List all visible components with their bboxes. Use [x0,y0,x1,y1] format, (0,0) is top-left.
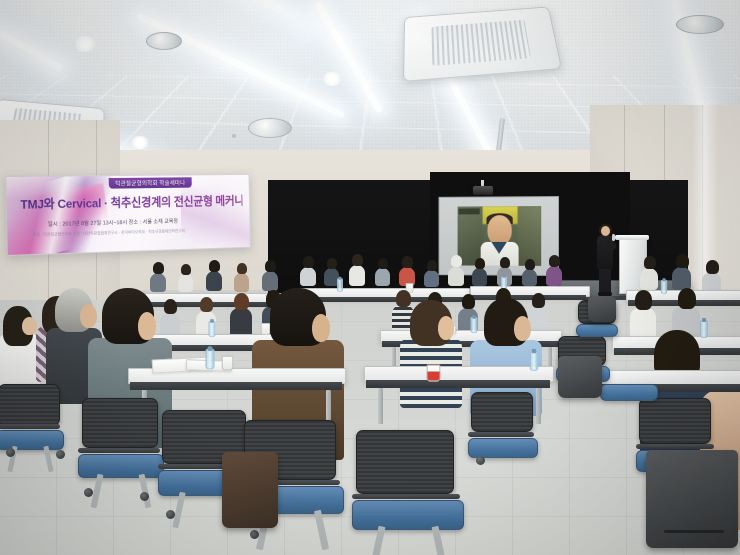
chair-backrest [82,398,158,448]
attendee-hair [265,260,276,272]
desk-modesty-panel [130,382,342,390]
attendee-hair [676,254,689,268]
attendee-torso [640,268,658,290]
ceiling-downlight [130,136,150,149]
desk-leg [326,390,331,424]
backpack-strap [664,530,724,533]
seminar-chair [468,392,542,464]
attendee [448,256,464,286]
chair-caster [56,450,65,459]
attendee [640,256,658,290]
attendee-hair [237,263,247,274]
chair-caster [140,492,149,501]
attendee-hair [451,255,462,267]
attendee-torso [234,273,249,292]
attendee [262,260,278,291]
attendee-hair [678,288,696,309]
chair-seat [78,454,164,478]
attendee-hair [525,259,535,270]
ceiling-speaker [248,118,292,138]
attendee-head [438,316,454,340]
chair-armrest [636,444,714,449]
attendee-hair [303,256,314,268]
attendee [399,256,415,286]
attendee [230,293,252,338]
chair-caster [250,530,259,539]
red-coffee-cup [427,364,441,382]
attendee-torso [546,266,562,286]
attendee [546,255,562,286]
shoulder-bag [588,296,616,322]
attendee-torso [472,268,487,286]
attendee [178,264,193,292]
attendee-hair [181,264,191,275]
attendee [0,306,40,390]
attendee-torso [522,269,537,286]
water-bottle [208,321,215,337]
chair-backrest [356,430,454,494]
attendee-head [22,317,37,335]
event-banner: 턱관절균형의학회 학술세미나 TMJ와 Cervical · 척추신경계의 전신… [5,174,251,256]
attendee-hair [402,256,413,268]
presenter [594,226,616,296]
seminar-room-photo: 턱관절균형의학회 학술세미나 TMJ와 Cervical · 척추신경계의 전신… [0,0,740,555]
ceiling-speaker [676,15,724,34]
seminar-chair [352,430,470,546]
shoulder-bag [558,356,602,398]
video-background-right [518,206,542,266]
chair-armrest [468,432,534,437]
attendee [424,260,439,287]
attendee-hair [153,262,164,274]
attendee-hair [234,293,249,310]
chair-armrest [352,494,460,499]
attendee-head [138,312,156,340]
ceiling-downlight [322,72,342,86]
attendee [522,259,537,286]
lectern-top [615,235,649,240]
attendee-torso [178,274,193,292]
paper-cup [222,356,234,371]
attendee-torso [672,267,691,290]
chair-seat [576,324,618,337]
water-bottle [661,280,667,294]
chair-backrest [0,384,60,426]
ceiling-speaker [146,32,182,50]
attendee [375,258,390,286]
attendee-head [514,316,531,341]
seminar-chair [600,352,662,412]
attendee-hair [427,260,437,271]
attendee-hair [635,290,652,310]
water-bottle [205,349,214,370]
attendee [234,263,249,292]
attendee-torso [300,267,316,286]
attendee-hair [378,258,388,269]
shoulder-bag [222,452,278,528]
microphone [612,234,615,241]
ceiling-ac-cassette [403,7,562,82]
attendee-hair [209,260,220,272]
chair-seat [600,384,658,401]
attendee-torso [206,271,222,291]
backpack [646,450,738,548]
attendee-hair [706,260,719,274]
desk-leg [378,388,383,424]
attendee-hair [352,254,363,266]
attendee-torso [448,267,464,286]
attendee-hair [549,255,560,267]
chair-armrest [0,424,60,429]
video-subject-face [487,215,511,245]
chair-caster [476,456,485,465]
attendee-torso [424,270,439,287]
sprinkler-head [232,134,236,138]
chair-caster [6,448,15,457]
attendee-torso [375,268,390,286]
presenter-legs [599,268,611,294]
attendee-hair [500,257,510,268]
desk-modesty-panel [366,380,550,388]
video-caption-bar [459,208,480,214]
attendee-hair [644,256,656,269]
seminar-chair [0,384,70,458]
chair-armrest [78,448,160,453]
chair-backrest [471,392,533,432]
chair-seat [468,438,538,458]
ceiling-downlight [74,36,96,52]
attendee-hair [475,258,485,269]
banner-organizer-tab: 턱관절균형의학회 학술세미나 [109,177,192,188]
water-bottle [530,351,539,371]
attendee [206,260,222,291]
attendee [349,254,365,286]
attendee-hair [200,297,213,312]
attendee [672,254,691,290]
attendee [472,258,487,286]
chair-caster [166,510,175,519]
attendee-torso [349,265,365,286]
attendee-head [312,314,330,342]
attendee-hair [327,258,337,269]
attendee [400,300,462,408]
chair-seat [352,500,464,530]
chair-caster [84,488,93,497]
attendee [300,256,316,286]
seminar-chair [78,398,170,488]
ceiling-projector [473,186,493,195]
presenter-head [601,226,610,236]
chair-seat [0,430,64,450]
attendee [702,260,721,294]
